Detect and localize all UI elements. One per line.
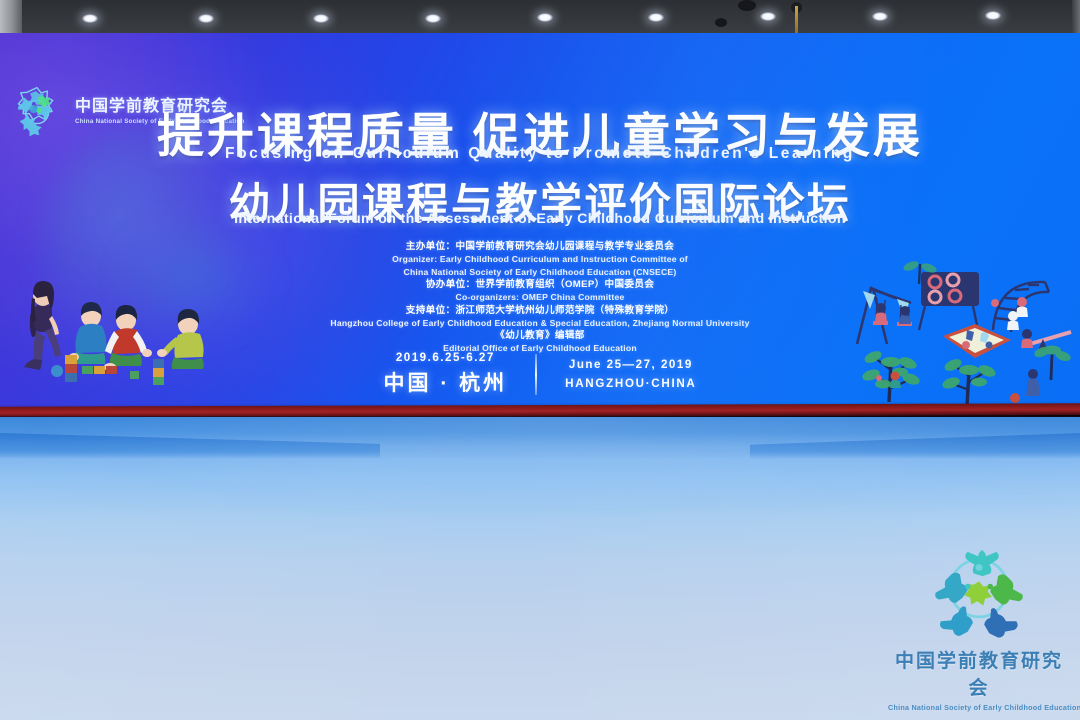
credit-line: 《幼儿教育》编辑部: [0, 329, 1080, 342]
credit-line: 支持单位：浙江师范大学杭州幼儿师范学院（特殊教育学院）: [0, 304, 1080, 317]
credit-line: 协办单位：世界学前教育组织（OMEP）中国委员会: [0, 278, 1080, 291]
footer-logo-en-name: China National Society of Early Childhoo…: [888, 703, 1070, 712]
ceiling-spotlight-icon: [760, 12, 776, 21]
ceiling-wall-left: [0, 0, 22, 33]
emblem-figure-right: [990, 574, 1023, 604]
credit-line: Organizer: Early Childhood Curriculum an…: [0, 253, 1080, 265]
conference-stage-photo: 中国学前教育研究会 China National Society of Earl…: [0, 0, 1080, 720]
ceiling-spotlight-icon: [872, 12, 888, 21]
ceiling-wall-right: [1072, 0, 1080, 33]
footer-logo: 中国学前教育研究会 China National Society of Earl…: [888, 538, 1070, 712]
ceiling-spotlight-icon: [648, 13, 664, 22]
credit-line: Co-organizers: OMEP China Committee: [0, 291, 1080, 303]
ceiling-fixture-icon: [715, 18, 727, 27]
date-place-en: June 25—27, 2019 HANGZHOU·CHINA: [565, 358, 696, 390]
emblem-dot: [987, 584, 993, 590]
hanging-microphone-pole: [795, 6, 798, 34]
date-place-cn: 2019.6.25-6.27 中国 · 杭州: [383, 351, 507, 397]
emblem-figure-bottom-left: [940, 606, 973, 636]
credit-line: 主办单位：中国学前教育研究会幼儿园课程与教学专业委员会: [0, 240, 1080, 253]
emblem-dot: [965, 584, 971, 590]
ceiling-spotlight-icon: [425, 14, 441, 23]
emblem-figure-left: [935, 573, 968, 603]
footer-logo-cn-name: 中国学前教育研究会: [888, 646, 1070, 700]
credit-line: China National Society of Early Childhoo…: [0, 266, 1080, 278]
credit-line: Hangzhou College of Early Childhood Educ…: [0, 317, 1080, 329]
event-date-cn: 2019.6.25-6.27: [383, 351, 507, 364]
ceiling-spotlight-icon: [82, 14, 98, 23]
event-date-en: June 25—27, 2019: [565, 358, 696, 371]
ceiling-spotlight-icon: [313, 14, 329, 23]
event-place-cn: 中国 · 杭州: [383, 367, 507, 397]
event-place-en: HANGZHOU·CHINA: [565, 377, 696, 390]
ceiling-spotlight-icon: [198, 14, 214, 23]
ceiling-fixture-icon: [738, 0, 756, 11]
date-place-divider: [535, 354, 537, 395]
led-backdrop-screen: 中国学前教育研究会 China National Society of Earl…: [0, 33, 1080, 411]
forum-title-en: International Forum on the Assessment of…: [0, 211, 1080, 227]
emblem-figure-bottom-right: [984, 608, 1017, 638]
organizer-credits: 主办单位：中国学前教育研究会幼儿园课程与教学专业委员会 Organizer: E…: [0, 240, 1080, 355]
emblem-dot: [976, 564, 983, 571]
ceiling-spotlight-icon: [985, 11, 1001, 20]
cnsece-emblem-icon: [927, 538, 1031, 642]
main-title-en: Focusing on Curriculum Quality to Promot…: [0, 145, 1080, 163]
event-date-place: 2019.6.25-6.27 中国 · 杭州 June 25—27, 2019 …: [0, 351, 1080, 397]
ceiling: [0, 0, 1080, 33]
ceiling-spotlight-icon: [537, 13, 553, 22]
